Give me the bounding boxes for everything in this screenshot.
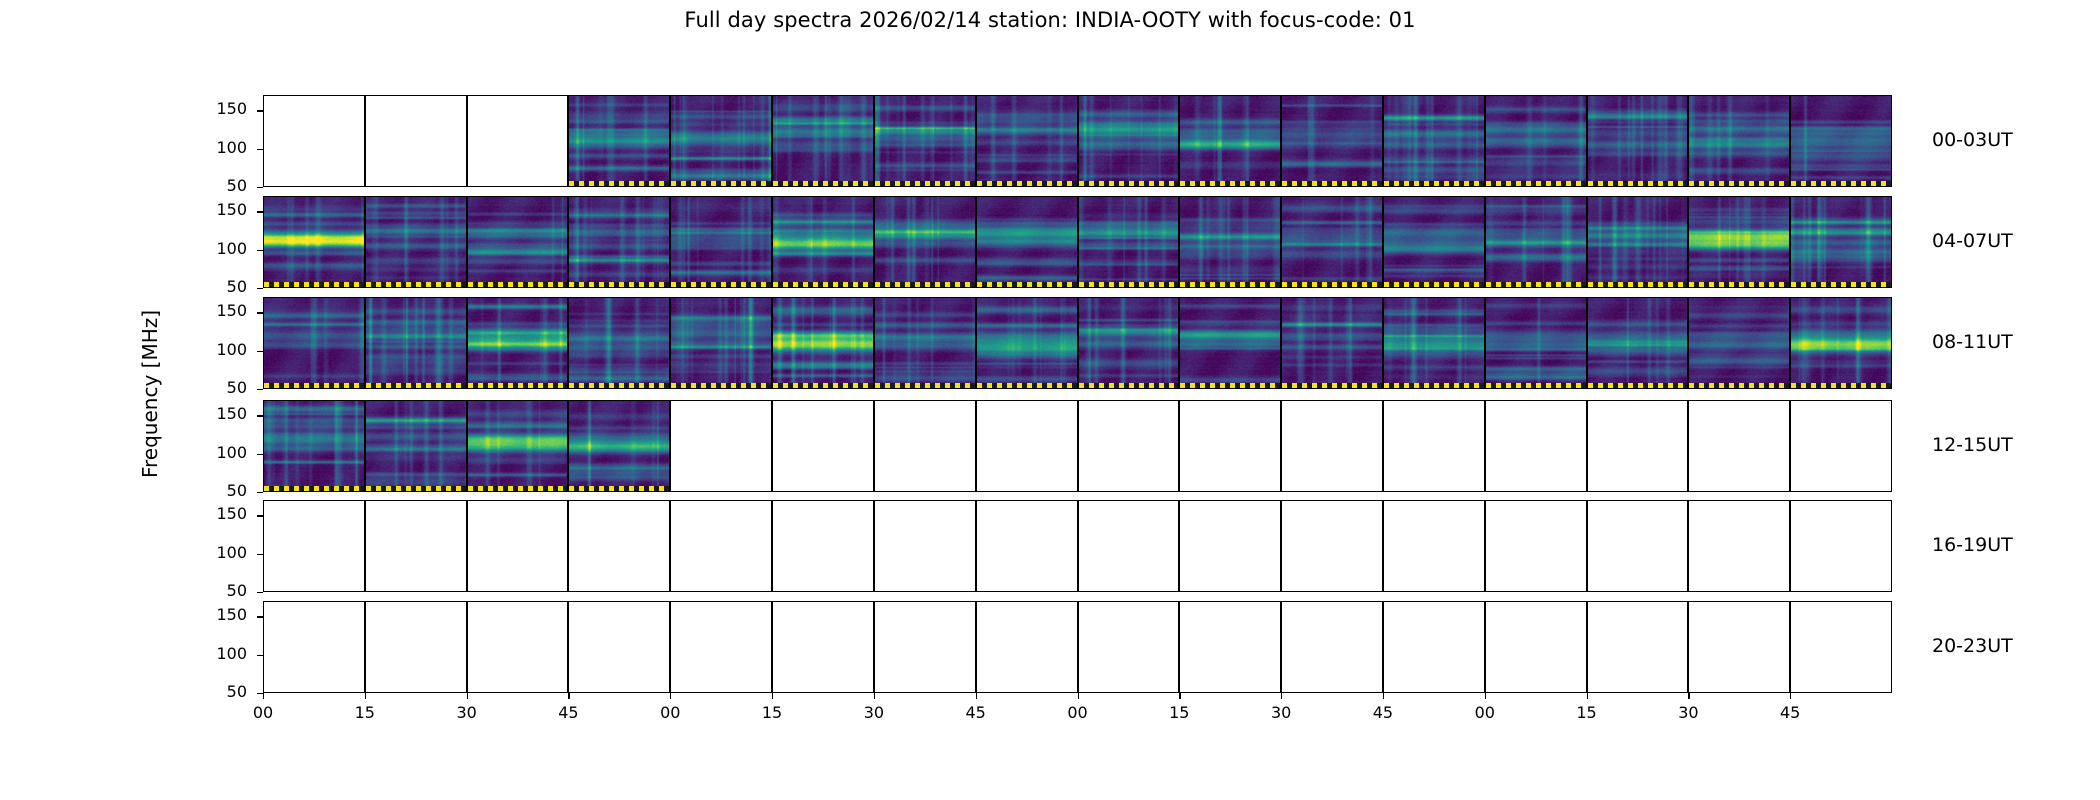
spectrogram-panel[interactable] — [467, 500, 569, 592]
x-axis-tick-label: 00 — [1455, 703, 1515, 722]
x-axis-tick-label: 30 — [844, 703, 904, 722]
data-present-marker — [1079, 383, 1179, 388]
spectrogram-panel[interactable] — [467, 196, 569, 288]
data-present-marker — [773, 383, 873, 388]
spectrogram-panel[interactable] — [1688, 297, 1790, 389]
y-axis-tick-mark — [257, 655, 263, 656]
data-present-marker — [569, 282, 669, 287]
data-present-marker — [1588, 383, 1688, 388]
spectrogram-panel[interactable] — [772, 196, 874, 288]
data-present-marker — [875, 383, 975, 388]
spectrogram-panel[interactable] — [1179, 601, 1281, 693]
spectrogram-panel[interactable] — [670, 297, 772, 389]
data-present-marker — [366, 282, 466, 287]
spectrogram-image — [569, 401, 669, 491]
spectrogram-panel[interactable] — [1179, 500, 1281, 592]
data-present-marker — [264, 486, 364, 491]
y-axis-tick-label: 50 — [191, 581, 247, 600]
data-present-marker — [1689, 383, 1789, 388]
y-axis-tick-label: 150 — [191, 200, 247, 219]
x-axis-tick-mark — [263, 693, 264, 699]
spectrogram-panel[interactable] — [1790, 500, 1892, 592]
spectrogram-image — [1689, 96, 1789, 186]
x-axis-tick-mark — [467, 693, 468, 699]
spectrogram-panel[interactable] — [1078, 196, 1180, 288]
data-present-marker — [671, 383, 771, 388]
x-axis-tick-label: 45 — [1353, 703, 1413, 722]
y-axis-tick-mark — [257, 616, 263, 617]
spectrogram-image — [1180, 298, 1280, 388]
spectrogram-panel[interactable] — [1587, 500, 1689, 592]
y-axis-tick-mark — [257, 515, 263, 516]
spectrogram-panel[interactable] — [772, 297, 874, 389]
data-present-marker — [264, 383, 364, 388]
data-present-marker — [1486, 383, 1586, 388]
data-present-marker — [264, 282, 364, 287]
row-time-range-label: 00-03UT — [1932, 129, 2013, 151]
x-axis-tick-label: 30 — [437, 703, 497, 722]
y-axis-tick-label: 150 — [191, 99, 247, 118]
spectrogram-panel[interactable] — [874, 500, 976, 592]
spectrogram-panel[interactable] — [1790, 400, 1892, 492]
spectrogram-panel[interactable] — [1383, 297, 1485, 389]
spectrogram-panel[interactable] — [1485, 196, 1587, 288]
spectrogram-panel[interactable] — [772, 400, 874, 492]
spectrogram-panel[interactable] — [1078, 500, 1180, 592]
spectrogram-panel[interactable] — [1587, 297, 1689, 389]
spectrogram-panel[interactable] — [263, 500, 365, 592]
spectrogram-image — [1180, 197, 1280, 287]
y-axis-tick-mark — [257, 492, 263, 493]
spectrogram-panel[interactable] — [365, 500, 467, 592]
y-axis-tick-label: 50 — [191, 277, 247, 296]
spectrogram-panel[interactable] — [1383, 95, 1485, 187]
x-axis-tick-label: 15 — [1149, 703, 1209, 722]
spectrogram-panel[interactable] — [467, 601, 569, 693]
spectrogram-panel[interactable] — [1383, 400, 1485, 492]
data-present-marker — [1689, 181, 1789, 186]
spectrogram-panel[interactable] — [1587, 400, 1689, 492]
spectrogram-panel[interactable] — [365, 196, 467, 288]
x-axis-tick-label: 45 — [538, 703, 598, 722]
spectrogram-panel[interactable] — [670, 400, 772, 492]
x-axis-tick-mark — [1281, 693, 1282, 699]
y-axis-tick-label: 50 — [191, 176, 247, 195]
data-present-marker — [1180, 181, 1280, 186]
spectrogram-panel[interactable] — [263, 400, 365, 492]
y-axis-tick-mark — [257, 351, 263, 352]
spectrogram-panel[interactable] — [1383, 196, 1485, 288]
spectrogram-panel[interactable] — [670, 95, 772, 187]
x-axis-tick-mark — [976, 693, 977, 699]
spectrogram-row-2 — [263, 196, 1892, 288]
data-present-marker — [366, 383, 466, 388]
spectrogram-image — [468, 298, 568, 388]
data-present-marker — [366, 486, 466, 491]
spectrogram-panel[interactable] — [772, 95, 874, 187]
data-present-marker — [1079, 282, 1179, 287]
data-present-marker — [1791, 282, 1891, 287]
spectrogram-panel[interactable] — [568, 500, 670, 592]
data-present-marker — [1384, 282, 1484, 287]
spectrogram-panel[interactable] — [1281, 400, 1383, 492]
spectrogram-image — [569, 197, 669, 287]
y-axis-tick-label: 150 — [191, 504, 247, 523]
x-axis-tick-label: 00 — [1048, 703, 1108, 722]
spectrogram-panel[interactable] — [874, 196, 976, 288]
spectrogram-image — [671, 96, 771, 186]
spectrogram-image — [1486, 298, 1586, 388]
spectrogram-panel[interactable] — [365, 601, 467, 693]
x-axis-tick-mark — [1587, 693, 1588, 699]
spectrogram-image — [468, 197, 568, 287]
row-time-range-label: 04-07UT — [1932, 230, 2013, 252]
spectrogram-image — [671, 197, 771, 287]
y-axis-tick-label: 150 — [191, 605, 247, 624]
spectrogram-image — [1384, 96, 1484, 186]
y-axis-tick-mark — [257, 211, 263, 212]
data-present-marker — [1180, 282, 1280, 287]
spectrogram-panel[interactable] — [568, 400, 670, 492]
spectrogram-panel[interactable] — [263, 196, 365, 288]
spectrogram-image — [1079, 197, 1179, 287]
y-axis-tick-label: 150 — [191, 404, 247, 423]
y-axis-tick-mark — [257, 149, 263, 150]
spectrogram-image — [1689, 298, 1789, 388]
spectrogram-panel[interactable] — [874, 601, 976, 693]
data-present-marker — [569, 181, 669, 186]
spectrogram-panel[interactable] — [976, 196, 1078, 288]
y-axis-tick-mark — [257, 415, 263, 416]
spectrogram-image — [875, 298, 975, 388]
data-present-marker — [468, 383, 568, 388]
data-present-marker — [468, 282, 568, 287]
x-axis-tick-label: 15 — [335, 703, 395, 722]
spectrogram-panel[interactable] — [263, 95, 365, 187]
spectrogram-panel[interactable] — [670, 196, 772, 288]
x-axis-tick-mark — [1078, 693, 1079, 699]
spectrogram-panel[interactable] — [1587, 601, 1689, 693]
spectrogram-image — [1282, 197, 1382, 287]
spectrogram-image — [773, 298, 873, 388]
spectrogram-panel[interactable] — [1790, 95, 1892, 187]
spectrogram-panel[interactable] — [568, 601, 670, 693]
spectrogram-image — [264, 197, 364, 287]
figure-title: Full day spectra 2026/02/14 station: IND… — [0, 8, 2100, 32]
spectrogram-image — [1588, 96, 1688, 186]
x-axis-tick-mark — [874, 693, 875, 699]
x-axis-tick-label: 00 — [233, 703, 293, 722]
spectrogram-panel[interactable] — [1179, 196, 1281, 288]
y-axis-tick-label: 100 — [191, 644, 247, 663]
spectrogram-row-1 — [263, 95, 1892, 187]
spectrogram-image — [1282, 96, 1382, 186]
spectrogram-image — [1791, 96, 1891, 186]
spectrogram-panel[interactable] — [772, 500, 874, 592]
spectrogram-row-3 — [263, 297, 1892, 389]
spectrogram-image — [366, 197, 466, 287]
spectrogram-panel[interactable] — [874, 400, 976, 492]
spectrogram-panel[interactable] — [365, 297, 467, 389]
spectrogram-panel[interactable] — [1078, 400, 1180, 492]
spectrogram-panel[interactable] — [1790, 297, 1892, 389]
spectrogram-panel[interactable] — [568, 297, 670, 389]
spectrogram-row-4 — [263, 400, 1892, 492]
spectrogram-panel[interactable] — [365, 400, 467, 492]
x-axis-tick-label: 45 — [1760, 703, 1820, 722]
spectrogram-panel[interactable] — [1688, 601, 1790, 693]
data-present-marker — [1791, 383, 1891, 388]
spectrogram-panel[interactable] — [1688, 500, 1790, 592]
figure-canvas: Full day spectra 2026/02/14 station: IND… — [0, 0, 2100, 800]
x-axis-tick-mark — [1790, 693, 1791, 699]
data-present-marker — [1282, 181, 1382, 186]
x-axis-tick-mark — [1179, 693, 1180, 699]
data-present-marker — [1486, 181, 1586, 186]
spectrogram-panel[interactable] — [1078, 601, 1180, 693]
y-axis-tick-mark — [257, 389, 263, 390]
spectrogram-panel[interactable] — [365, 95, 467, 187]
x-axis-tick-mark — [568, 693, 569, 699]
spectrogram-panel[interactable] — [772, 601, 874, 693]
y-axis-tick-label: 100 — [191, 543, 247, 562]
spectrogram-image — [1486, 197, 1586, 287]
spectrogram-panel[interactable] — [1383, 500, 1485, 592]
spectrogram-panel[interactable] — [670, 500, 772, 592]
x-axis-tick-label: 30 — [1658, 703, 1718, 722]
spectrogram-panel[interactable] — [1281, 196, 1383, 288]
spectrogram-panel[interactable] — [568, 95, 670, 187]
data-present-marker — [671, 282, 771, 287]
spectrogram-panel[interactable] — [1281, 95, 1383, 187]
spectrogram-panel[interactable] — [976, 500, 1078, 592]
data-present-marker — [875, 181, 975, 186]
y-axis-tick-label: 100 — [191, 138, 247, 157]
spectrogram-image — [264, 298, 364, 388]
x-axis-tick-mark — [1688, 693, 1689, 699]
spectrogram-image — [1079, 298, 1179, 388]
spectrogram-image — [977, 197, 1077, 287]
spectrogram-panel[interactable] — [467, 400, 569, 492]
spectrogram-image — [977, 298, 1077, 388]
y-axis-tick-label: 50 — [191, 378, 247, 397]
spectrogram-panel[interactable] — [263, 601, 365, 693]
x-axis-tick-label: 30 — [1251, 703, 1311, 722]
spectrogram-image — [773, 96, 873, 186]
spectrogram-panel[interactable] — [1078, 297, 1180, 389]
spectrogram-panel[interactable] — [568, 196, 670, 288]
spectrogram-panel[interactable] — [874, 297, 976, 389]
spectrogram-panel[interactable] — [1179, 95, 1281, 187]
spectrogram-panel[interactable] — [467, 95, 569, 187]
spectrogram-panel[interactable] — [1281, 500, 1383, 592]
spectrogram-image — [1791, 197, 1891, 287]
y-axis-tick-mark — [257, 554, 263, 555]
x-axis-tick-label: 15 — [742, 703, 802, 722]
spectrogram-panel[interactable] — [1587, 95, 1689, 187]
spectrogram-panel[interactable] — [1485, 95, 1587, 187]
data-present-marker — [1282, 383, 1382, 388]
spectrogram-panel[interactable] — [1688, 400, 1790, 492]
spectrogram-image — [671, 298, 771, 388]
data-present-marker — [1791, 181, 1891, 186]
spectrogram-panel[interactable] — [1688, 196, 1790, 288]
x-axis-tick-mark — [365, 693, 366, 699]
spectrogram-panel[interactable] — [1281, 601, 1383, 693]
y-axis-tick-label: 150 — [191, 301, 247, 320]
spectrogram-image — [1079, 96, 1179, 186]
spectrogram-panel[interactable] — [976, 400, 1078, 492]
spectrogram-image — [366, 401, 466, 491]
data-present-marker — [671, 181, 771, 186]
data-present-marker — [1486, 282, 1586, 287]
x-axis-tick-label: 15 — [1557, 703, 1617, 722]
spectrogram-panel[interactable] — [263, 297, 365, 389]
spectrogram-panel[interactable] — [1688, 95, 1790, 187]
y-axis-tick-mark — [257, 592, 263, 593]
y-axis-label: Frequency [MHz] — [138, 310, 162, 478]
spectrogram-image — [264, 401, 364, 491]
data-present-marker — [977, 383, 1077, 388]
spectrogram-panel[interactable] — [1383, 601, 1485, 693]
y-axis-tick-label: 50 — [191, 481, 247, 500]
spectrogram-image — [468, 401, 568, 491]
data-present-marker — [977, 282, 1077, 287]
data-present-marker — [1180, 383, 1280, 388]
data-present-marker — [773, 181, 873, 186]
spectrogram-panel[interactable] — [1485, 500, 1587, 592]
spectrogram-panel[interactable] — [1078, 95, 1180, 187]
spectrogram-panel[interactable] — [1179, 400, 1281, 492]
x-axis-tick-label: 45 — [946, 703, 1006, 722]
y-axis-tick-label: 100 — [191, 239, 247, 258]
data-present-marker — [1588, 181, 1688, 186]
y-axis-tick-mark — [257, 454, 263, 455]
data-present-marker — [468, 486, 568, 491]
spectrogram-panel[interactable] — [1179, 297, 1281, 389]
spectrogram-image — [569, 96, 669, 186]
data-present-marker — [977, 181, 1077, 186]
data-present-marker — [569, 486, 669, 491]
spectrogram-panel[interactable] — [1790, 601, 1892, 693]
row-time-range-label: 20-23UT — [1932, 635, 2013, 657]
spectrogram-panel[interactable] — [467, 297, 569, 389]
spectrogram-panel[interactable] — [1587, 196, 1689, 288]
spectrogram-panel[interactable] — [1485, 400, 1587, 492]
spectrogram-image — [1689, 197, 1789, 287]
y-axis-tick-mark — [257, 288, 263, 289]
y-axis-tick-label: 100 — [191, 443, 247, 462]
spectrogram-image — [1486, 96, 1586, 186]
row-time-range-label: 08-11UT — [1932, 331, 2013, 353]
spectrogram-image — [1180, 96, 1280, 186]
y-axis-tick-mark — [257, 312, 263, 313]
y-axis-tick-label: 100 — [191, 340, 247, 359]
data-present-marker — [1079, 181, 1179, 186]
spectrogram-panel[interactable] — [976, 95, 1078, 187]
y-axis-tick-mark — [257, 187, 263, 188]
spectrogram-image — [569, 298, 669, 388]
spectrogram-image — [773, 197, 873, 287]
x-axis-tick-mark — [670, 693, 671, 699]
spectrogram-image — [1384, 197, 1484, 287]
spectrogram-image — [875, 96, 975, 186]
spectrogram-row-6 — [263, 601, 1892, 693]
spectrogram-panel[interactable] — [670, 601, 772, 693]
spectrogram-panel[interactable] — [1790, 196, 1892, 288]
spectrogram-panel[interactable] — [1281, 297, 1383, 389]
x-axis-tick-mark — [1383, 693, 1384, 699]
spectrogram-image — [1282, 298, 1382, 388]
data-present-marker — [1384, 383, 1484, 388]
y-axis-tick-label: 50 — [191, 682, 247, 701]
spectrogram-image — [1588, 298, 1688, 388]
spectrogram-image — [1384, 298, 1484, 388]
x-axis-tick-label: 00 — [640, 703, 700, 722]
spectrogram-panel[interactable] — [874, 95, 976, 187]
y-axis-tick-mark — [257, 250, 263, 251]
spectrogram-panel[interactable] — [976, 297, 1078, 389]
spectrogram-image — [977, 96, 1077, 186]
spectrogram-row-5 — [263, 500, 1892, 592]
spectrogram-panel[interactable] — [1485, 297, 1587, 389]
spectrogram-image — [366, 298, 466, 388]
data-present-marker — [1282, 282, 1382, 287]
spectrogram-image — [875, 197, 975, 287]
data-present-marker — [1384, 181, 1484, 186]
spectrogram-panel[interactable] — [1485, 601, 1587, 693]
data-present-marker — [875, 282, 975, 287]
row-time-range-label: 16-19UT — [1932, 534, 2013, 556]
data-present-marker — [773, 282, 873, 287]
data-present-marker — [1689, 282, 1789, 287]
data-present-marker — [1588, 282, 1688, 287]
x-axis-tick-mark — [772, 693, 773, 699]
row-time-range-label: 12-15UT — [1932, 434, 2013, 456]
spectrogram-panel[interactable] — [976, 601, 1078, 693]
y-axis-tick-mark — [257, 110, 263, 111]
data-present-marker — [569, 383, 669, 388]
spectrogram-image — [1791, 298, 1891, 388]
x-axis-tick-mark — [1485, 693, 1486, 699]
spectrogram-image — [1588, 197, 1688, 287]
